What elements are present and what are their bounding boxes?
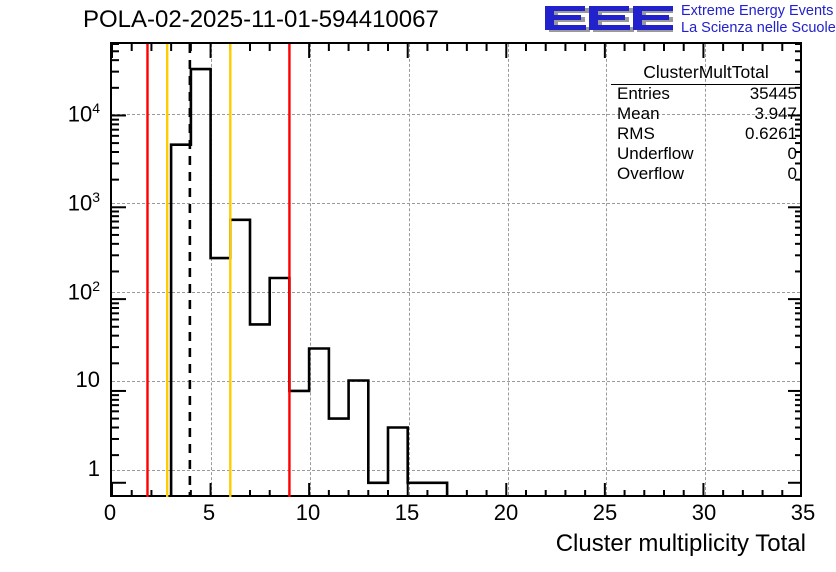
x-tick-label-0: 0 [90,500,130,526]
stats-key: Overflow [617,164,684,184]
stats-value: 0 [788,144,797,164]
stats-value: 35445 [750,84,797,104]
stats-row-entries: Entries 35445 [611,84,801,104]
x-tick-label-30: 30 [679,500,729,526]
eee-logo-line1: Extreme Energy Events [681,3,836,20]
root-canvas: POLA-02-2025-11-01-594410067 Extreme Ene… [0,0,836,572]
stats-row-rms: RMS 0.6261 [611,124,801,144]
stats-key: Entries [617,84,670,104]
stats-key: Underflow [617,144,694,164]
stats-value: 0 [788,164,797,184]
x-tick-label-25: 25 [580,500,630,526]
y-tick-label-100: 102 [0,278,100,305]
stats-row-underflow: Underflow 0 [611,144,801,164]
stats-title: ClusterMultTotal [611,62,801,85]
eee-letters-icon [541,4,673,36]
x-axis-title: Cluster multiplicity Total [556,530,806,558]
eee-logo-line2: La Scienza nelle Scuole [681,20,836,37]
x-tick-label-10: 10 [283,500,333,526]
stats-row-overflow: Overflow 0 [611,164,801,184]
y-tick-label-1: 1 [0,456,100,482]
histogram-outline [171,69,506,497]
x-tick-label-35: 35 [778,500,828,526]
eee-logo: Extreme Energy Events La Scienza nelle S… [541,3,831,37]
y-tick-label-1000: 103 [0,189,100,216]
marker-lines [147,44,289,497]
x-tick-label-15: 15 [382,500,432,526]
stats-key: Mean [617,104,660,124]
stats-value: 3.947 [754,104,797,124]
page-title: POLA-02-2025-11-01-594410067 [83,6,439,34]
stats-key: RMS [617,124,655,144]
x-tick-label-5: 5 [189,500,229,526]
stats-box: ClusterMultTotal Entries 35445 Mean 3.94… [611,62,801,187]
x-tick-label-20: 20 [481,500,531,526]
eee-logo-text: Extreme Energy Events La Scienza nelle S… [681,3,836,36]
stats-value: 0.6261 [745,124,797,144]
stats-row-mean: Mean 3.947 [611,104,801,124]
y-tick-label-10000: 104 [0,100,100,127]
y-tick-label-10: 10 [0,367,100,393]
